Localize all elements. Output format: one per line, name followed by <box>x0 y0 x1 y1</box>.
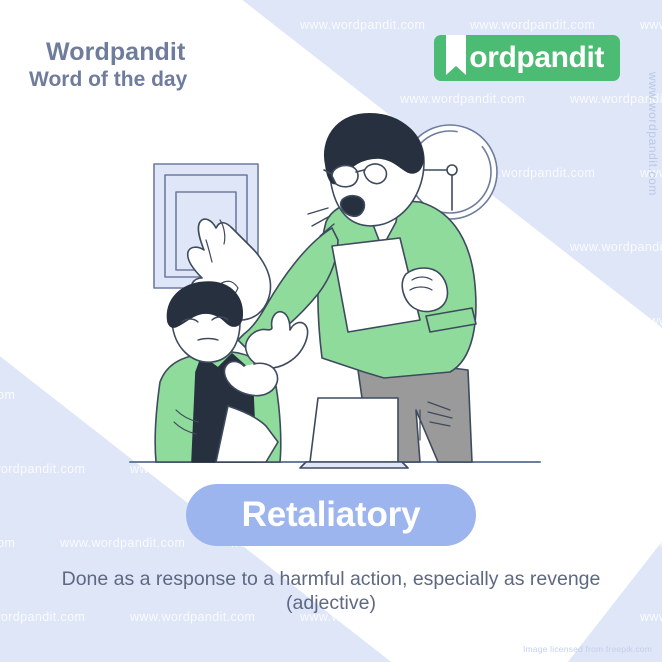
watermark-text: www.wordpandit.com <box>640 314 662 328</box>
word-of-the-day-card: www.wordpandit.comwww.wordpandit.comwww.… <box>0 0 662 662</box>
word-definition: Done as a response to a harmful action, … <box>0 566 662 592</box>
watermark-text: www.wordpandit.com <box>0 462 130 476</box>
watermark-text: www.wordpandit.com <box>570 536 662 550</box>
watermark-text: www.wordpandit.com <box>400 92 570 106</box>
word-badge: Retaliatory <box>186 484 476 546</box>
watermark-side-vertical: www.wordpandit.com <box>646 72 660 196</box>
laptop-icon <box>300 398 408 468</box>
watermark-text: www.wordpandit.com <box>570 240 662 254</box>
watermark-text: www.wordpandit.com <box>0 388 60 402</box>
watermark-text: www.wordpandit.com <box>640 462 662 476</box>
watermark-text: www.wordpandit.com <box>60 92 230 106</box>
wordpandit-logo[interactable]: ordpandit <box>434 35 620 81</box>
bookmark-w-icon <box>444 35 468 81</box>
watermark-text: www.wordpandit.com <box>0 92 60 106</box>
watermark-text: www.wordpandit.com <box>640 18 662 32</box>
watermark-text: www.wordpandit.com <box>0 166 130 180</box>
watermark-row: www.wordpandit.comwww.wordpandit.comwww.… <box>0 92 662 106</box>
watermark-text: www.wordpandit.com <box>130 18 300 32</box>
watermark-text: www.wordpandit.com <box>470 18 640 32</box>
image-credit: Image licensed from freepik.com <box>523 644 652 654</box>
logo-text: ordpandit <box>469 35 604 81</box>
watermark-text: www.wordpandit.com <box>0 240 60 254</box>
part-of-speech: (adjective) <box>0 592 662 615</box>
watermark-text: www.wordpandit.com <box>0 536 60 550</box>
watermark-row: www.wordpandit.comwww.wordpandit.comwww.… <box>0 18 662 32</box>
brand-subtitle: Word of the day <box>29 68 187 92</box>
word-term: Retaliatory <box>242 495 421 535</box>
illustration-angry-boss <box>120 110 550 490</box>
watermark-text: www.wordpandit.com <box>570 388 662 402</box>
hand-holding-paper-icon <box>402 268 447 311</box>
watermark-text: www.wordpandit.com <box>300 18 470 32</box>
watermark-text: www.wordpandit.com <box>0 314 130 328</box>
watermark-text: www.wordpandit.com <box>230 92 400 106</box>
brand-title: Wordpandit <box>46 38 185 67</box>
watermark-text: www.wordpandit.com <box>0 18 130 32</box>
